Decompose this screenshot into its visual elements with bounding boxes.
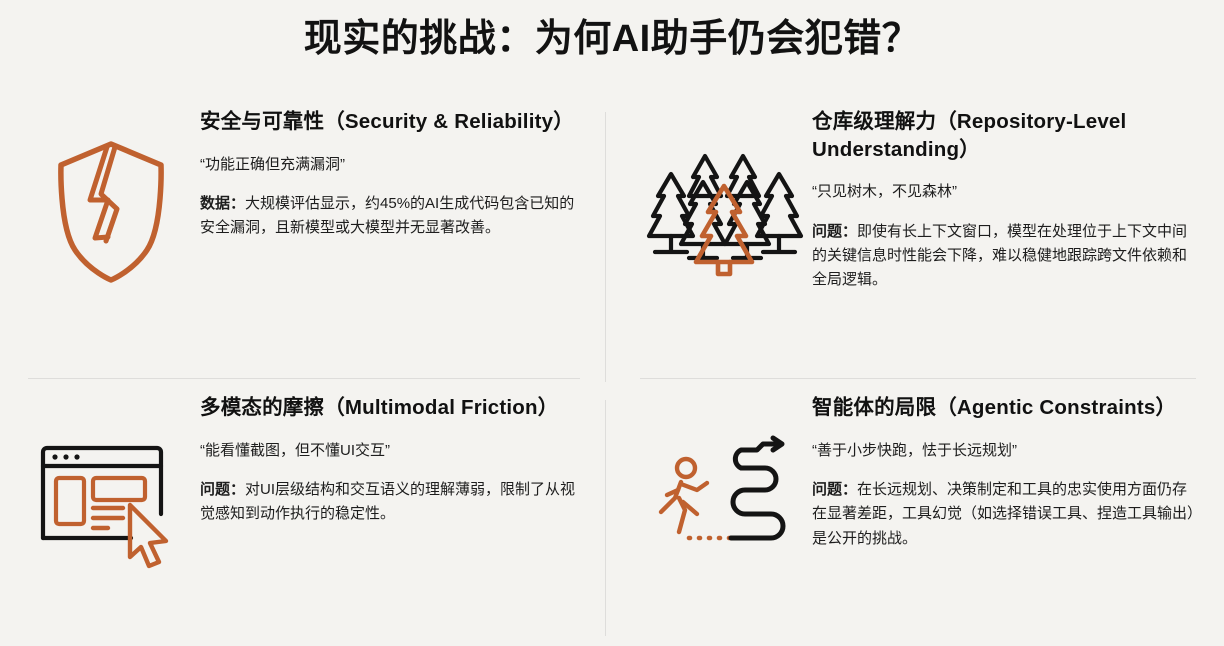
card-quote: “能看懂截图，但不懂UI交互” (200, 440, 578, 463)
cracked-shield-icon (22, 108, 200, 284)
card-body: 问题：在长远规划、决策制定和工具的忠实使用方面仍存在显著差距，工具幻觉（如选择错… (812, 478, 1196, 551)
cards-grid: 安全与可靠性（Security & Reliability） “功能正确但充满漏… (0, 104, 1224, 646)
card-text: 仓库级理解力（Repository-Level Understanding） “… (812, 108, 1200, 293)
browser-cursor-icon (22, 394, 200, 570)
card-title: 安全与可靠性（Security & Reliability） (200, 108, 578, 136)
runner-winding-path-icon (634, 394, 812, 564)
forest-trees-icon (634, 108, 812, 276)
card-text: 多模态的摩擦（Multimodal Friction） “能看懂截图，但不懂UI… (200, 394, 582, 527)
card-body: 问题：对UI层级结构和交互语义的理解薄弱，限制了从视觉感知到动作执行的稳定性。 (200, 478, 578, 527)
card-text: 安全与可靠性（Security & Reliability） “功能正确但充满漏… (200, 108, 582, 241)
card-body-lead: 问题： (812, 223, 857, 240)
card-body-lead: 数据： (200, 195, 245, 212)
card-body-text: 对UI层级结构和交互语义的理解薄弱，限制了从视觉感知到动作执行的稳定性。 (200, 481, 575, 522)
card-body-lead: 问题： (200, 481, 245, 498)
card-body-text: 即使有长上下文窗口，模型在处理位于上下文中间的关键信息时性能会下降，难以稳健地跟… (812, 223, 1187, 289)
page-title: 现实的挑战：为何AI助手仍会犯错？ (0, 16, 1224, 64)
card-body: 问题：即使有长上下文窗口，模型在处理位于上下文中间的关键信息时性能会下降，难以稳… (812, 220, 1196, 293)
slide-root: 现实的挑战：为何AI助手仍会犯错？ 安全与可靠性（Security & Reli… (0, 0, 1224, 646)
card-quote: “只见树木，不见森林” (812, 181, 1196, 204)
card-text: 智能体的局限（Agentic Constraints） “善于小步快跑，怯于长远… (812, 394, 1200, 551)
card-title: 仓库级理解力（Repository-Level Understanding） (812, 108, 1196, 163)
card-repository-level-understanding: 仓库级理解力（Repository-Level Understanding） “… (634, 108, 1200, 378)
card-multimodal-friction: 多模态的摩擦（Multimodal Friction） “能看懂截图，但不懂UI… (22, 394, 582, 644)
card-body-text: 在长远规划、决策制定和工具的忠实使用方面仍存在显著差距，工具幻觉（如选择错误工具… (812, 481, 1195, 547)
card-quote: “功能正确但充满漏洞” (200, 154, 578, 177)
card-body: 数据：大规模评估显示，约45%的AI生成代码包含已知的安全漏洞，且新模型或大模型… (200, 192, 578, 241)
card-security-reliability: 安全与可靠性（Security & Reliability） “功能正确但充满漏… (22, 108, 582, 378)
card-quote: “善于小步快跑，怯于长远规划” (812, 440, 1196, 463)
card-body-text: 大规模评估显示，约45%的AI生成代码包含已知的安全漏洞，且新模型或大模型并无显… (200, 195, 574, 236)
card-title: 多模态的摩擦（Multimodal Friction） (200, 394, 578, 422)
card-agentic-constraints: 智能体的局限（Agentic Constraints） “善于小步快跑，怯于长远… (634, 394, 1200, 644)
card-body-lead: 问题： (812, 481, 857, 498)
card-title: 智能体的局限（Agentic Constraints） (812, 394, 1196, 422)
